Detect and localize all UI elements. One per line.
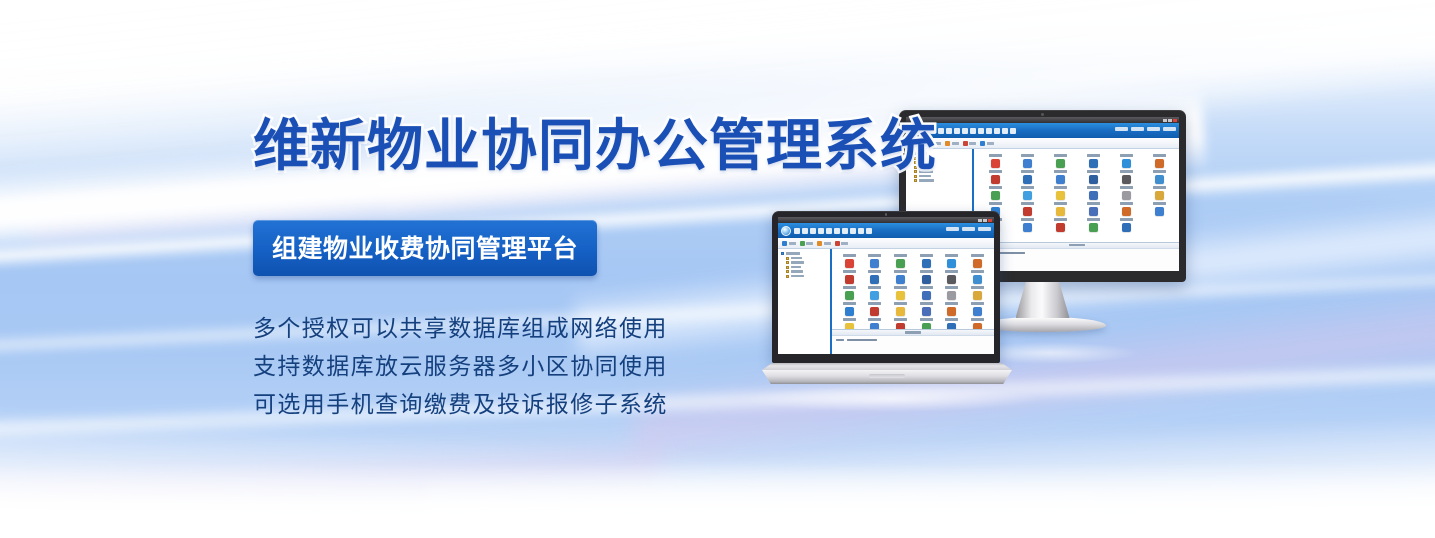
menu-item[interactable] — [970, 128, 976, 134]
module-icon — [1122, 191, 1131, 200]
toolbar-label — [987, 142, 994, 145]
module-icon — [947, 259, 956, 268]
menu-item[interactable] — [994, 128, 1000, 134]
module-icon — [1023, 223, 1032, 232]
module-icon — [1023, 175, 1032, 184]
module-icon — [991, 191, 1000, 200]
module-icon-cell[interactable] — [1143, 170, 1175, 184]
module-icon-caption — [1021, 186, 1034, 189]
module-icon-caption — [894, 286, 907, 289]
menu-item[interactable] — [962, 128, 968, 134]
module-icon — [1089, 159, 1098, 168]
module-icon — [1155, 175, 1164, 184]
module-icon — [922, 307, 931, 316]
module-icon-cell[interactable] — [914, 254, 939, 268]
module-icon — [922, 291, 931, 300]
module-icon-caption — [1087, 170, 1100, 173]
module-icon — [1056, 223, 1065, 232]
module-icon-caption — [1021, 170, 1034, 173]
menu-item[interactable] — [1002, 128, 1008, 134]
module-icon-cell[interactable] — [1078, 154, 1110, 168]
module-icon-cell[interactable] — [914, 318, 939, 329]
header-actions[interactable] — [946, 227, 991, 231]
module-icon-cell[interactable] — [1110, 186, 1142, 200]
module-icon-cell[interactable] — [965, 302, 990, 316]
module-icon-cell[interactable] — [1012, 186, 1044, 200]
module-icon-caption — [971, 254, 984, 257]
module-icon-caption — [894, 318, 907, 321]
menu-item[interactable] — [986, 128, 992, 134]
module-icon-cell[interactable] — [1110, 154, 1142, 168]
menu-item[interactable] — [978, 128, 984, 134]
banner-copy: 维新物业协同办公管理系统 组建物业收费协同管理平台 多个授权可以共享数据库组成网… — [253, 118, 893, 424]
maximize-icon[interactable] — [1168, 119, 1172, 122]
module-icon-cell[interactable] — [1110, 218, 1142, 232]
module-icon — [1023, 207, 1032, 216]
page-title: 维新物业协同办公管理系统 — [253, 118, 893, 176]
module-icon — [896, 291, 905, 300]
minimize-icon[interactable] — [1163, 119, 1167, 122]
module-icon-cell[interactable] — [979, 170, 1011, 184]
minimize-icon[interactable] — [978, 219, 982, 222]
toolbar-button[interactable] — [980, 141, 994, 146]
module-icon-caption — [1021, 202, 1034, 205]
module-icon-caption — [945, 254, 958, 257]
module-icon — [1056, 175, 1065, 184]
folder-icon — [914, 179, 917, 182]
module-icon — [991, 175, 1000, 184]
module-icon-caption — [945, 302, 958, 305]
close-icon[interactable] — [988, 219, 992, 222]
module-icon-caption — [920, 254, 933, 257]
module-icon — [1056, 191, 1065, 200]
module-icon — [1155, 159, 1164, 168]
header-action[interactable] — [1131, 127, 1144, 131]
module-icon-caption — [1153, 170, 1166, 173]
module-icon-caption — [1120, 218, 1133, 221]
toolbar-icon — [945, 141, 950, 146]
module-icon — [991, 159, 1000, 168]
menu-item[interactable] — [946, 128, 952, 134]
module-icon-caption — [1021, 218, 1034, 221]
module-icon — [1122, 207, 1131, 216]
module-icon — [947, 291, 956, 300]
module-icon-cell[interactable] — [1012, 154, 1044, 168]
maximize-icon[interactable] — [983, 219, 987, 222]
module-icon — [922, 259, 931, 268]
module-icon-caption — [1021, 154, 1034, 157]
module-icon-caption — [1054, 186, 1067, 189]
webcam-icon — [1041, 113, 1044, 116]
module-icon-caption — [1153, 202, 1166, 205]
module-icon-caption — [1153, 186, 1166, 189]
module-icon-caption — [989, 186, 1002, 189]
module-icon-caption — [1087, 154, 1100, 157]
header-actions[interactable] — [1115, 127, 1176, 131]
module-icon — [973, 275, 982, 284]
module-icon — [1056, 207, 1065, 216]
module-icon-caption — [971, 302, 984, 305]
toolbar-button[interactable] — [945, 141, 959, 146]
module-icon-caption — [1054, 202, 1067, 205]
module-icon-cell[interactable] — [1045, 154, 1077, 168]
monitor-stand-neck — [1016, 282, 1070, 318]
module-icon-caption — [920, 270, 933, 273]
module-icon-cell[interactable] — [1045, 186, 1077, 200]
module-icon-cell[interactable] — [940, 318, 965, 329]
toolbar-icon — [963, 141, 968, 146]
menu-item[interactable] — [954, 128, 960, 134]
module-icon — [1122, 223, 1131, 232]
module-icon-cell[interactable] — [940, 302, 965, 316]
module-icon-caption — [920, 302, 933, 305]
module-icon-caption — [894, 254, 907, 257]
module-icon-caption — [1120, 170, 1133, 173]
module-icon-cell[interactable] — [914, 302, 939, 316]
toolbar-icon — [980, 141, 985, 146]
module-icon — [1122, 175, 1131, 184]
module-icon-cell[interactable] — [965, 318, 990, 329]
module-icon-caption — [971, 286, 984, 289]
module-icon-cell[interactable] — [1012, 170, 1044, 184]
module-icon-caption — [920, 318, 933, 321]
feature-item: 支持数据库放云服务器多小区协同使用 — [253, 348, 893, 386]
module-icon-cell[interactable] — [1045, 170, 1077, 184]
module-icon-cell[interactable] — [965, 286, 990, 300]
module-icon-cell[interactable] — [940, 254, 965, 268]
module-icon-cell[interactable] — [1143, 186, 1175, 200]
module-icon — [1089, 223, 1098, 232]
toolbar-button[interactable] — [963, 141, 977, 146]
module-icon-caption — [971, 270, 984, 273]
module-icon-cell[interactable] — [1045, 218, 1077, 232]
feature-list: 多个授权可以共享数据库组成网络使用 支持数据库放云服务器多小区协同使用 可选用手… — [253, 310, 893, 424]
module-icon-cell[interactable] — [1078, 202, 1110, 216]
module-icon — [973, 259, 982, 268]
module-icon-caption — [989, 170, 1002, 173]
module-icon-cell[interactable] — [1012, 218, 1044, 232]
module-icon — [1023, 191, 1032, 200]
module-icon — [922, 275, 931, 284]
module-icon-caption — [1054, 154, 1067, 157]
module-icon-caption — [1087, 218, 1100, 221]
module-icon-cell[interactable] — [1078, 218, 1110, 232]
module-icon — [1089, 207, 1098, 216]
module-icon-cell[interactable] — [914, 286, 939, 300]
module-icon-cell[interactable] — [979, 154, 1011, 168]
module-icon-caption — [971, 318, 984, 321]
module-icon-caption — [1153, 154, 1166, 157]
bottom-panel-title — [905, 331, 921, 334]
module-icon-caption — [1054, 170, 1067, 173]
module-icon — [1155, 207, 1164, 216]
module-icon-caption — [920, 286, 933, 289]
module-icon — [1122, 159, 1131, 168]
promo-banner: 维新物业协同办公管理系统 组建物业收费协同管理平台 多个授权可以共享数据库组成网… — [0, 0, 1435, 538]
module-icon-cell[interactable] — [965, 270, 990, 284]
module-icon-caption — [945, 286, 958, 289]
close-icon[interactable] — [1173, 119, 1177, 122]
module-icon-cell[interactable] — [1078, 170, 1110, 184]
module-icon — [973, 307, 982, 316]
module-icon — [896, 307, 905, 316]
module-icon-caption — [945, 270, 958, 273]
module-icon — [896, 275, 905, 284]
header-action[interactable] — [946, 227, 959, 231]
module-icon-cell[interactable] — [914, 270, 939, 284]
module-icon-caption — [989, 154, 1002, 157]
module-icon — [947, 275, 956, 284]
module-icon-cell[interactable] — [940, 270, 965, 284]
module-icon-cell[interactable] — [1110, 170, 1142, 184]
module-icon-caption — [894, 270, 907, 273]
tree-node-label — [919, 179, 934, 182]
module-icon-caption — [1120, 202, 1133, 205]
app-header-bar — [906, 123, 1179, 138]
module-icon-caption — [1054, 218, 1067, 221]
module-icon — [896, 259, 905, 268]
header-action[interactable] — [1163, 127, 1176, 131]
module-icon — [947, 307, 956, 316]
module-icon-caption — [1120, 186, 1133, 189]
module-icon-cell[interactable] — [1012, 202, 1044, 216]
module-icon-caption — [1087, 186, 1100, 189]
module-icon-cell[interactable] — [965, 254, 990, 268]
module-icon — [1155, 191, 1164, 200]
module-icon-caption — [1120, 154, 1133, 157]
module-icon-cell[interactable] — [1045, 202, 1077, 216]
module-icon-cell[interactable] — [1078, 186, 1110, 200]
header-action[interactable] — [1115, 127, 1128, 131]
module-icon-cell[interactable] — [940, 286, 965, 300]
tree-node[interactable] — [909, 179, 970, 182]
module-icon-caption — [894, 302, 907, 305]
module-icon-cell[interactable] — [1110, 202, 1142, 216]
module-icon — [1089, 191, 1098, 200]
app-toolbar — [906, 138, 1179, 149]
module-icon — [1056, 159, 1065, 168]
menu-item[interactable] — [938, 128, 944, 134]
module-icon — [1089, 175, 1098, 184]
header-action[interactable] — [1147, 127, 1160, 131]
module-icon-cell[interactable] — [1143, 202, 1175, 216]
feature-item: 可选用手机查询缴费及投诉报修子系统 — [253, 386, 893, 424]
module-icon-cell[interactable] — [1143, 154, 1175, 168]
module-icon — [973, 291, 982, 300]
feature-item: 多个授权可以共享数据库组成网络使用 — [253, 310, 893, 348]
toolbar-label — [952, 142, 959, 145]
header-action[interactable] — [962, 227, 975, 231]
module-icon-cell[interactable] — [979, 186, 1011, 200]
header-action[interactable] — [978, 227, 991, 231]
bottom-panel-title — [1069, 244, 1085, 247]
menu-item[interactable] — [1010, 128, 1016, 134]
module-icon — [1023, 159, 1032, 168]
module-icon-caption — [1087, 202, 1100, 205]
module-icon-caption — [945, 318, 958, 321]
module-icon-caption — [989, 202, 1002, 205]
toolbar-label — [969, 142, 976, 145]
tagline-badge: 组建物业收费协同管理平台 — [253, 220, 597, 276]
